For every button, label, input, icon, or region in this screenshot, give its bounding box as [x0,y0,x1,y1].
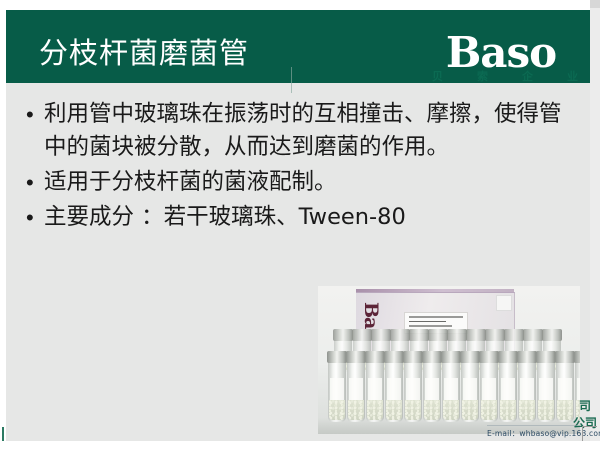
tube-label [539,378,553,400]
label-line [409,316,463,318]
tube-cap [441,351,461,363]
tube-row-front [328,360,580,422]
tube-cap [428,329,448,341]
product-photo: Ba [318,286,580,434]
tube-cap [447,329,467,341]
brand-logo: Baso [428,31,574,75]
tube-label [463,378,477,400]
top-right-notch [590,0,600,8]
tube-cap [365,351,385,363]
tube-cap [390,329,410,341]
glass-beads [462,400,478,420]
tube-cap [384,351,404,363]
logo-sub-char-1: 贝 [432,70,443,84]
tube-cap [542,329,562,341]
tube-cap [466,329,486,341]
test-tube [480,360,498,422]
glass-beads [348,400,364,420]
edge-marker-bottom-left [2,427,10,441]
glass-beads [557,400,573,420]
tube-cap [504,329,524,341]
list-item: • 主要成分 ：若干玻璃珠、Tween-80 [26,201,574,234]
slide-right-margin [590,0,600,450]
tube-cap [371,329,391,341]
tube-label [501,378,515,400]
test-tube [442,360,460,422]
presentation-slide: 分枝杆菌磨菌管 Baso 贝 索 企 业 • 利用管中玻璃珠在振荡时的互相撞击、… [0,0,600,450]
glass-beads [329,400,345,420]
tube-cap [352,329,372,341]
glass-beads [481,400,497,420]
tube-label [387,378,401,400]
tube-cap [574,351,580,363]
bullet-text: 主要成分 ：若干玻璃珠、Tween-80 [44,201,574,234]
tube-cap [555,351,575,363]
bullet-text: 适用于分枝杆菌的菌液配制。 [44,166,574,199]
tube-cap [460,351,480,363]
tube-cap [536,351,556,363]
tube-cap [485,329,505,341]
glass-beads [386,400,402,420]
bullet-text: 利用管中玻璃珠在振荡时的互相撞击、摩擦，使得管中的菌块被分散，从而达到磨菌的作用… [44,98,574,164]
bullet-marker-icon: • [26,166,44,199]
product-box-corner-label [496,295,512,311]
glass-beads [443,400,459,420]
glass-beads [405,400,421,420]
slide-bottom-margin [0,441,600,450]
tube-cap [409,329,429,341]
glass-beads [424,400,440,420]
tube-cap [523,329,543,341]
glass-beads [538,400,554,420]
tube-label [349,378,363,400]
logo-wordmark: Baso [428,31,574,75]
page-title: 分枝杆菌磨菌管 [39,36,249,70]
test-tube [347,360,365,422]
bullet-marker-icon: • [26,201,44,234]
product-box-logo: Ba [362,302,380,328]
logo-sub-char-3: 企 [522,70,533,84]
tube-label [368,378,382,400]
list-item: • 适用于分枝杆菌的菌液配制。 [26,166,574,199]
company-side-line-1: 司 [572,398,598,415]
resize-handle-bottom-right[interactable] [582,426,597,441]
label-line [409,321,446,323]
tube-cap [422,351,442,363]
slide-top-margin [0,0,600,10]
glass-beads [500,400,516,420]
logo-subtitle: 贝 索 企 业 [426,70,584,84]
test-tube [499,360,517,422]
glass-beads [519,400,535,420]
tube-cap [346,351,366,363]
tube-label [330,378,344,400]
tube-cap [498,351,518,363]
tube-cap [327,351,347,363]
test-tube [537,360,555,422]
tube-label [520,378,534,400]
tube-label [482,378,496,400]
test-tube [385,360,403,422]
tube-cap [333,329,353,341]
tube-label [444,378,458,400]
bullet-marker-icon: • [26,98,44,131]
bullet-list: • 利用管中玻璃珠在振荡时的互相撞击、摩擦，使得管中的菌块被分散，从而达到磨菌的… [26,98,574,236]
tube-cap [479,351,499,363]
label-line [409,325,452,327]
tube-label [406,378,420,400]
logo-sub-char-2: 索 [477,70,488,84]
tube-label [577,378,580,400]
test-tube [328,360,346,422]
test-tube [366,360,384,422]
glass-beads [367,400,383,420]
list-item: • 利用管中玻璃珠在振荡时的互相撞击、摩擦，使得管中的菌块被分散，从而达到磨菌的… [26,98,574,164]
tube-label [558,378,572,400]
footer-divider [487,425,577,426]
test-tube [518,360,536,422]
logo-sub-char-4: 业 [567,70,578,84]
tube-cap [403,351,423,363]
test-tube [461,360,479,422]
test-tube [404,360,422,422]
title-divider [291,67,292,93]
tube-label [425,378,439,400]
test-tube [423,360,441,422]
tube-cap [517,351,537,363]
